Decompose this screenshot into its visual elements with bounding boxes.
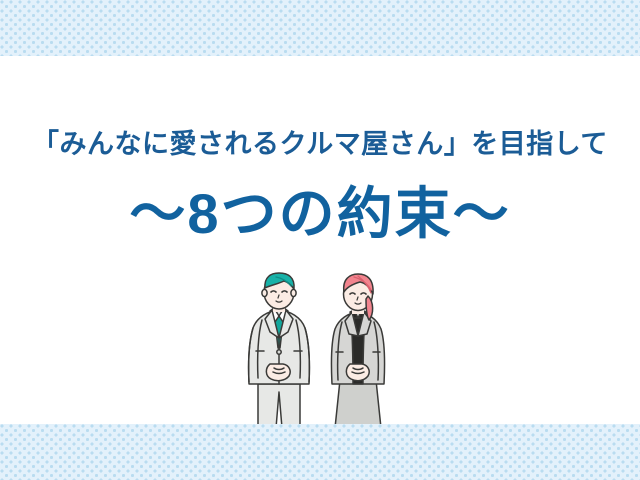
female-staff-figure: [331, 274, 384, 428]
male-staff-figure: [249, 273, 310, 428]
two-business-people-illustration: [232, 272, 408, 428]
subheadline-text: 「みんなに愛されるクルマ屋さん」を目指して: [0, 128, 640, 160]
promo-banner: 「みんなに愛されるクルマ屋さん」を目指して 〜8つの約束〜: [0, 0, 640, 480]
top-dot-band: [0, 0, 640, 56]
bottom-dot-band: [0, 424, 640, 480]
headline-text: 〜8つの約束〜: [0, 182, 640, 246]
